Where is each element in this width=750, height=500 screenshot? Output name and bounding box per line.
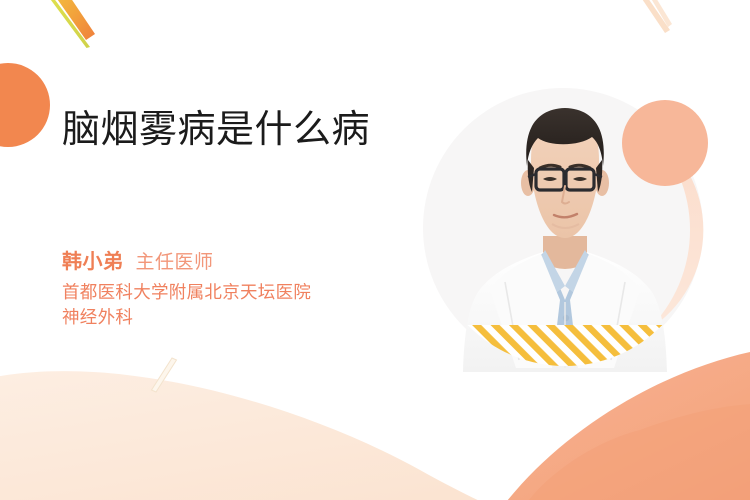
faint-diagonal-stroke bbox=[152, 358, 177, 392]
peach-diagonal-stroke-1 bbox=[636, 0, 670, 33]
shirt-button bbox=[563, 315, 569, 321]
doctor-name: 韩小弟 bbox=[62, 251, 124, 273]
doctor-name-line: 韩小弟主任医师 bbox=[62, 245, 422, 274]
title-block: 脑烟雾病是什么病 bbox=[62, 108, 422, 153]
doctor-portrait bbox=[455, 95, 675, 375]
doctor-info-block: 韩小弟主任医师 首都医科大学附属北京天坛医院 神经外科 bbox=[62, 245, 422, 331]
gold-diagonal-stroke bbox=[48, 0, 95, 40]
cream-wave-bottom-left bbox=[0, 371, 520, 500]
doctor-hospital: 首都医科大学附属北京天坛医院 bbox=[62, 280, 422, 305]
video-thumbnail-card: 脑烟雾病是什么病 韩小弟主任医师 首都医科大学附属北京天坛医院 神经外科 bbox=[0, 0, 750, 500]
doctor-department: 神经外科 bbox=[62, 305, 422, 330]
page-title: 脑烟雾病是什么病 bbox=[62, 108, 422, 153]
doctor-affiliation: 首都医科大学附属北京天坛医院 神经外科 bbox=[62, 280, 422, 331]
doctor-title: 主任医师 bbox=[136, 252, 214, 273]
yellow-diagonal-line bbox=[42, 0, 90, 48]
orange-circle-left bbox=[0, 63, 50, 147]
peach-diagonal-stroke-2 bbox=[646, 0, 672, 27]
salmon-wave-overlap bbox=[520, 404, 750, 500]
